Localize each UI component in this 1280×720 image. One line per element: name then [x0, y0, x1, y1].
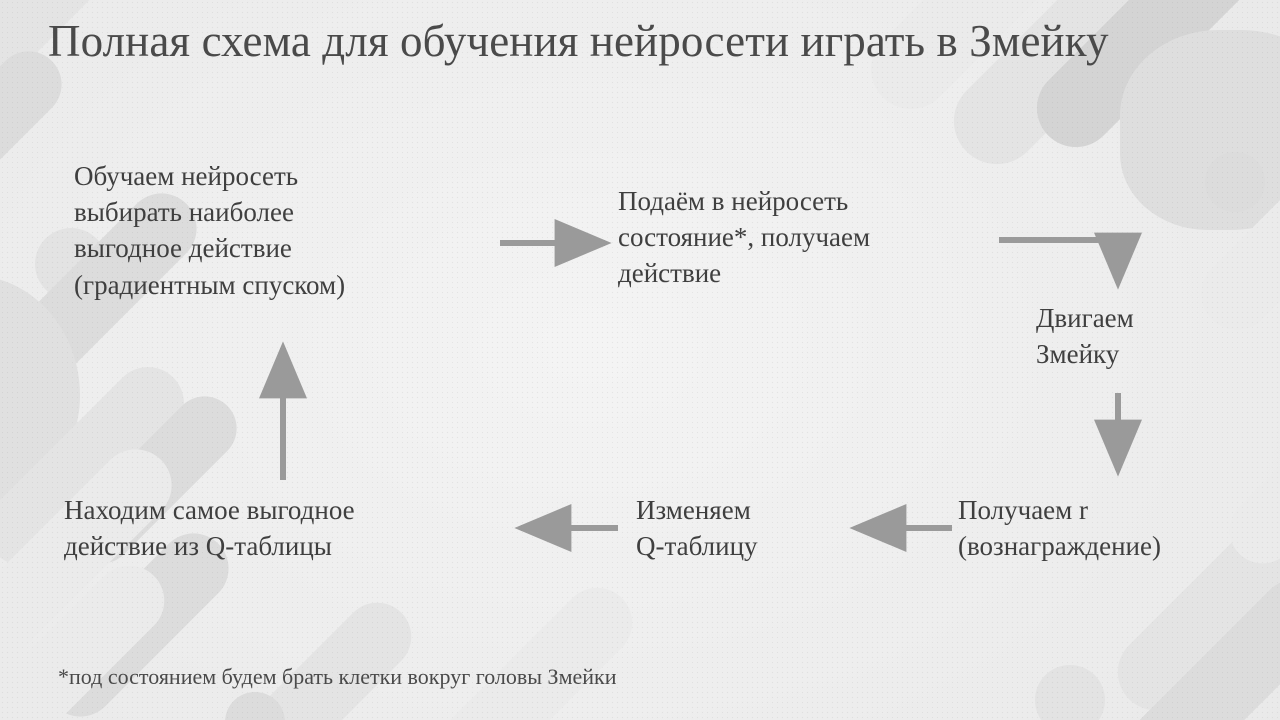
page-title: Полная схема для обучения нейросети игра…: [48, 14, 1228, 69]
diagram-node-move: Двигаем Змейку: [1036, 300, 1276, 372]
decor-capsule-ml-3: [0, 434, 187, 697]
decor-circle-tr-1: [1205, 152, 1265, 212]
decor-blob-left: [0, 275, 80, 505]
decor-circle-ml-1: [140, 570, 196, 626]
diagram-node-update: Изменяем Q-таблицу: [636, 492, 866, 564]
slide-canvas: Полная схема для обучения нейросети игра…: [0, 0, 1280, 720]
arrow-feed-to-move: [999, 240, 1118, 283]
decor-capsule-bl-1: [0, 551, 179, 720]
decor-capsule-tl-2: [0, 38, 75, 269]
decor-circle-br-1: [1035, 665, 1105, 720]
footnote: *под состоянием будем брать клетки вокру…: [58, 664, 617, 690]
decor-capsule-bl-2: [215, 589, 426, 720]
diagram-node-feed: Подаём в нейросеть состояние*, получаем …: [618, 183, 998, 292]
diagram-node-reward: Получаем r (вознаграждение): [958, 492, 1280, 564]
decor-circle-bl-1: [225, 692, 285, 720]
decor-capsule-bl-3: [413, 573, 646, 720]
decor-capsule-br-2: [1112, 564, 1280, 720]
diagram-node-train: Обучаем нейросеть выбирать наиболее выго…: [74, 158, 504, 303]
diagram-node-best: Находим самое выгодное действие из Q-таб…: [64, 492, 524, 564]
